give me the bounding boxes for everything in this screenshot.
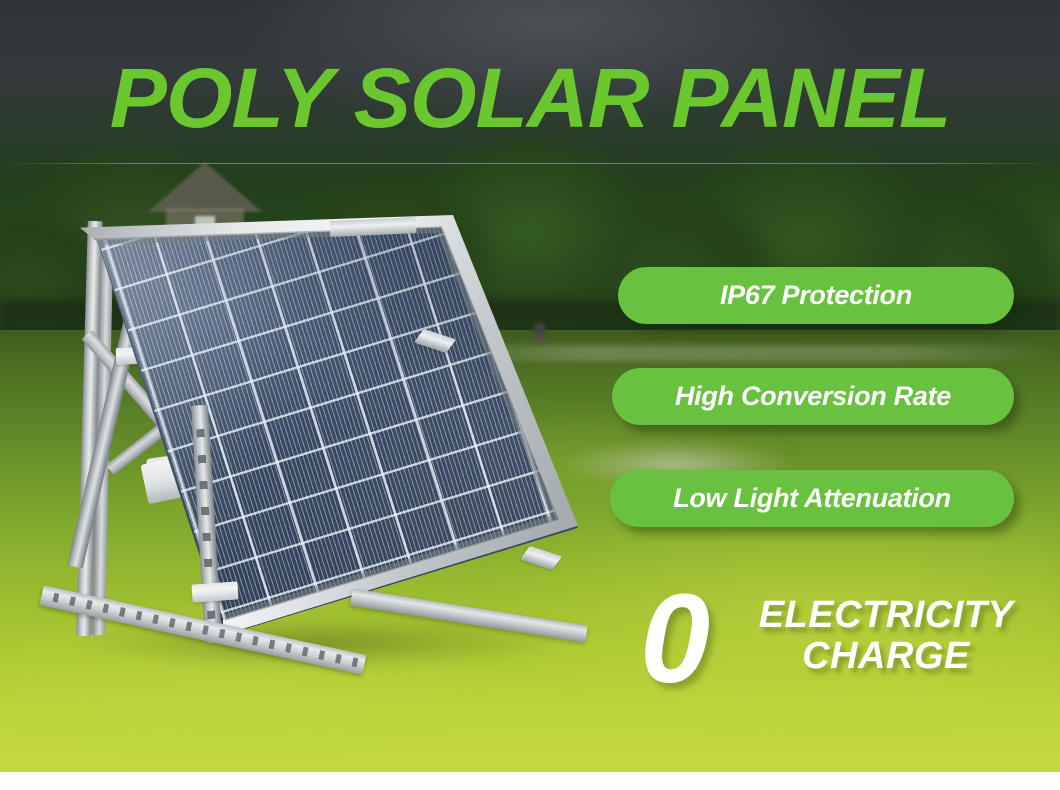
solar-panel-product-image — [20, 215, 610, 715]
promo-banner: POLY SOLAR PANEL IP67 Protection High Co… — [0, 0, 1060, 790]
page-title: POLY SOLAR PANEL — [0, 56, 1060, 140]
feature-badge-label: IP67 Protection — [720, 280, 912, 311]
mount-clamp-lower — [191, 581, 238, 602]
zero-callout-line-1: ELECTRICITY — [746, 595, 1026, 636]
feature-badge-ip67: IP67 Protection — [618, 267, 1014, 324]
feature-badge-label: High Conversion Rate — [675, 381, 951, 412]
zero-callout-text: ELECTRICITY CHARGE — [746, 595, 1026, 677]
feature-badge-light-attenuation: Low Light Attenuation — [610, 470, 1014, 527]
pv-glass-reflection — [78, 215, 578, 635]
pv-module — [78, 215, 578, 635]
zero-electricity-charge-callout: 0 ELECTRICITY CHARGE — [632, 585, 1032, 695]
zero-callout-line-2: CHARGE — [746, 636, 1026, 677]
zero-digit: 0 — [640, 576, 710, 702]
feature-badge-label: Low Light Attenuation — [673, 483, 951, 514]
feature-badge-conversion-rate: High Conversion Rate — [612, 368, 1014, 425]
decorative-divider-line — [0, 163, 1060, 164]
bottom-white-margin — [0, 772, 1060, 790]
